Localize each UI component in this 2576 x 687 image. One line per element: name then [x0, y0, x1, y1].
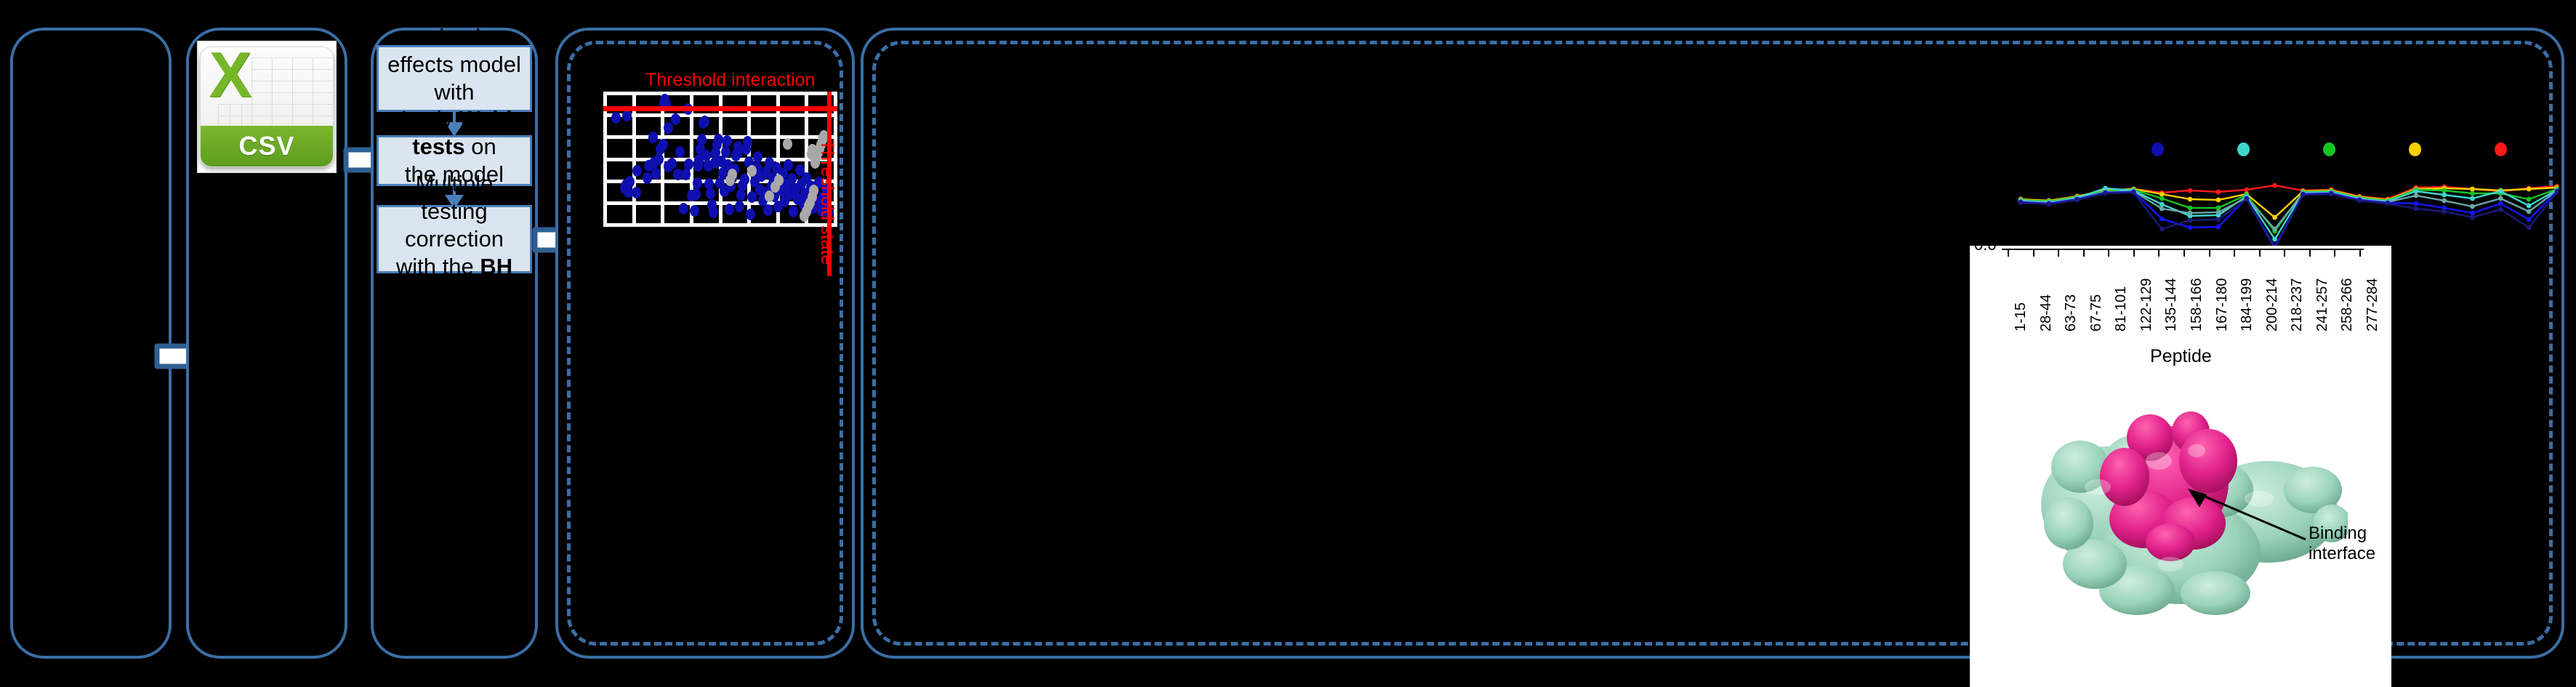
- line-series-point: [2470, 196, 2475, 201]
- x-axis-tick-label: 200-214: [2264, 278, 2281, 332]
- line-series-point: [2442, 198, 2447, 204]
- step-reml-line2: effects model with: [387, 52, 521, 105]
- binding-interface-arrow-icon: [2181, 486, 2311, 548]
- csv-file-icon: X CSV: [200, 47, 334, 167]
- scatter-gridline-horizontal: [603, 113, 837, 117]
- line-series-point: [2215, 210, 2221, 215]
- line-series-point: [2527, 209, 2532, 214]
- step-bh-box: Multiple testing correction with the BH …: [377, 205, 532, 273]
- line-series-point: [2498, 196, 2503, 201]
- line-series-point: [2131, 190, 2136, 196]
- scatter-point: [690, 205, 699, 217]
- line-series-point: [2470, 204, 2475, 209]
- scatter-point: [622, 110, 632, 121]
- csv-file-card: X CSV: [197, 41, 337, 173]
- scatter-point: [659, 139, 668, 150]
- line-chart-legend: [2152, 142, 2559, 161]
- x-axis-tick-label: 167-180: [2214, 278, 2231, 332]
- line-series-point: [2442, 188, 2447, 193]
- csv-label: CSV: [238, 131, 294, 161]
- scatter-point: [709, 206, 718, 218]
- x-axis-tick-label: 81-101: [2113, 286, 2130, 332]
- step-reml-box: Fit a linear mixed- effects model with R…: [377, 45, 532, 112]
- line-series-point: [2386, 201, 2391, 206]
- scatter-point: [725, 204, 734, 215]
- line-series-point: [2160, 227, 2165, 232]
- scatter-gridline-horizontal: [603, 223, 837, 227]
- line-series-point: [2215, 206, 2221, 211]
- legend-dot-series-5: [2495, 142, 2507, 156]
- scatter-point: [746, 209, 755, 220]
- step-bh-keyword: BH: [480, 254, 512, 279]
- line-series-point: [2215, 217, 2221, 222]
- scatter-point: [714, 134, 723, 145]
- scatter-point: [783, 138, 792, 150]
- line-series-point: [2272, 215, 2277, 220]
- legend-dot-series-2: [2237, 142, 2250, 156]
- legend-dot-series-3: [2323, 142, 2335, 156]
- line-series-point: [2470, 187, 2475, 192]
- line-series-point: [2188, 225, 2193, 230]
- scatter-point: [723, 135, 732, 147]
- line-series-point: [2470, 191, 2475, 196]
- x-axis-tick-label: 241-257: [2314, 278, 2331, 332]
- x-axis-tick-labels: 1-1528-4463-7367-7581-101122-129135-1441…: [1970, 246, 2391, 340]
- step-bh-line3-post: procedure: [403, 281, 505, 307]
- line-series-point: [2188, 206, 2193, 211]
- line-series-point: [2160, 192, 2165, 197]
- scatter-point: [774, 174, 784, 186]
- scatter-point: [743, 136, 752, 148]
- line-series-point: [2413, 193, 2418, 198]
- line-series-series-blue: [2021, 191, 2557, 247]
- line-series-point: [2272, 237, 2277, 242]
- step-bh-line1: Multiple testing: [416, 171, 494, 224]
- line-series-point: [2188, 197, 2193, 202]
- line-series-point: [2442, 209, 2447, 214]
- binding-interface-annotation: Binding interface: [2309, 523, 2375, 563]
- line-series-point: [2357, 198, 2362, 204]
- line-series-point: [2272, 183, 2277, 188]
- line-series-point: [2527, 225, 2532, 230]
- threshold-interaction-line: [603, 106, 837, 111]
- x-axis-tick-label: 184-199: [2239, 278, 2255, 332]
- line-series-point: [2413, 206, 2418, 212]
- line-series-series-cyan: [2021, 188, 2557, 239]
- scatter-point: [625, 176, 635, 188]
- scatter-point: [684, 158, 693, 170]
- line-series-series-navy: [2021, 192, 2557, 249]
- threshold-interaction-label: Threshold interaction: [645, 70, 815, 91]
- line-series-point: [2018, 201, 2024, 206]
- csv-label-band: CSV: [201, 126, 333, 166]
- binding-interface-line2: interface: [2309, 544, 2375, 564]
- scatter-point: [667, 158, 677, 169]
- line-series-point: [2215, 198, 2221, 203]
- scatter-point: [632, 165, 642, 177]
- step-bh-line2: correction: [405, 226, 504, 252]
- scatter-point: [721, 146, 730, 158]
- line-series-point: [2160, 196, 2165, 201]
- line-series-point: [2046, 202, 2051, 207]
- scatter-point: [735, 201, 744, 212]
- input-stage-panel: [10, 28, 172, 659]
- line-series-point: [2188, 188, 2193, 193]
- line-series-point: [2527, 197, 2532, 202]
- scatter-gridline-horizontal: [603, 92, 837, 95]
- scatter-point: [654, 153, 664, 165]
- scatter-point: [675, 146, 685, 158]
- scatter-point: [693, 177, 702, 189]
- line-series-point: [2272, 227, 2277, 232]
- scatter-point: [789, 206, 798, 217]
- scatter-point: [736, 189, 746, 201]
- line-series-point: [2215, 225, 2221, 230]
- x-axis-tick-label: 67-75: [2088, 294, 2105, 332]
- scatter-point: [728, 169, 737, 180]
- line-series-point: [2527, 217, 2532, 222]
- scatter-point: [679, 203, 688, 214]
- line-series-point: [2442, 193, 2447, 198]
- legend-dot-series-1: [2152, 142, 2164, 156]
- scatter-point: [700, 116, 709, 127]
- line-series-point: [2188, 218, 2193, 223]
- peptide-line-chart: [2006, 174, 2559, 254]
- binding-interface-line1: Binding: [2309, 523, 2375, 544]
- scatter-point: [632, 187, 641, 198]
- scatter-point: [706, 188, 715, 199]
- line-series-point: [2413, 201, 2418, 206]
- line-series-point: [2470, 215, 2475, 220]
- line-series-point: [2215, 190, 2221, 195]
- step-wald-line1-pre: Apply: [396, 106, 459, 132]
- scatter-plot: Threshold state: [603, 92, 837, 227]
- scatter-point: [671, 113, 680, 125]
- line-series-point: [2301, 193, 2306, 198]
- line-series-point: [2160, 217, 2165, 222]
- scatter-point: [747, 165, 757, 177]
- scatter-point: [651, 168, 661, 180]
- x-axis-tick-label: 135-144: [2163, 278, 2180, 332]
- scatter-point: [611, 112, 621, 124]
- x-axis-tick-label: 218-237: [2289, 278, 2306, 332]
- scatter-point: [784, 159, 793, 171]
- line-series-point: [2329, 192, 2334, 197]
- scatter-point: [691, 188, 701, 200]
- scatter-point: [648, 132, 658, 143]
- line-series-point: [2498, 201, 2503, 206]
- x-axis-tick-label: 28-44: [2038, 294, 2055, 332]
- line-series-point: [2074, 198, 2080, 203]
- line-series-point: [2498, 189, 2503, 194]
- line-series-point: [2527, 187, 2532, 192]
- peptide-figure-panel: 0.0 1-1528-4463-7367-7581-101122-129135-…: [1970, 246, 2391, 687]
- line-series-point: [2527, 204, 2532, 209]
- line-series-point: [2188, 211, 2193, 216]
- line-series-point: [2160, 206, 2165, 212]
- line-series-point: [2160, 202, 2165, 207]
- x-axis-tick-label: 277-284: [2364, 278, 2381, 332]
- x-axis-title: Peptide: [2150, 346, 2212, 367]
- line-series-point: [2103, 191, 2108, 196]
- legend-dot-series-4: [2409, 142, 2421, 156]
- scatter-point: [681, 169, 691, 180]
- line-series-point: [2498, 207, 2503, 212]
- line-series-point: [2244, 197, 2249, 202]
- line-series-point: [2413, 189, 2418, 194]
- line-series-point: [2244, 188, 2249, 193]
- x-axis-tick-label: 122-129: [2138, 278, 2155, 332]
- x-axis-tick-label: 158-166: [2189, 278, 2205, 332]
- scatter-point: [763, 204, 773, 216]
- step-bh-line3-pre: with the: [396, 254, 480, 279]
- step-reml-line1: Fit a linear mixed-: [402, 0, 507, 49]
- x-axis-tick-label: 63-73: [2063, 294, 2080, 332]
- excel-x-glyph: X: [204, 49, 257, 104]
- x-axis-tick-label: 258-266: [2339, 278, 2356, 332]
- scatter-point: [697, 134, 707, 145]
- threshold-state-label: Threshold state: [816, 140, 837, 265]
- x-axis-tick-label: 1-15: [2013, 302, 2029, 332]
- step-wald-line1-post: on: [465, 134, 496, 159]
- scatter-point: [740, 174, 749, 185]
- line-series-point: [2470, 211, 2475, 216]
